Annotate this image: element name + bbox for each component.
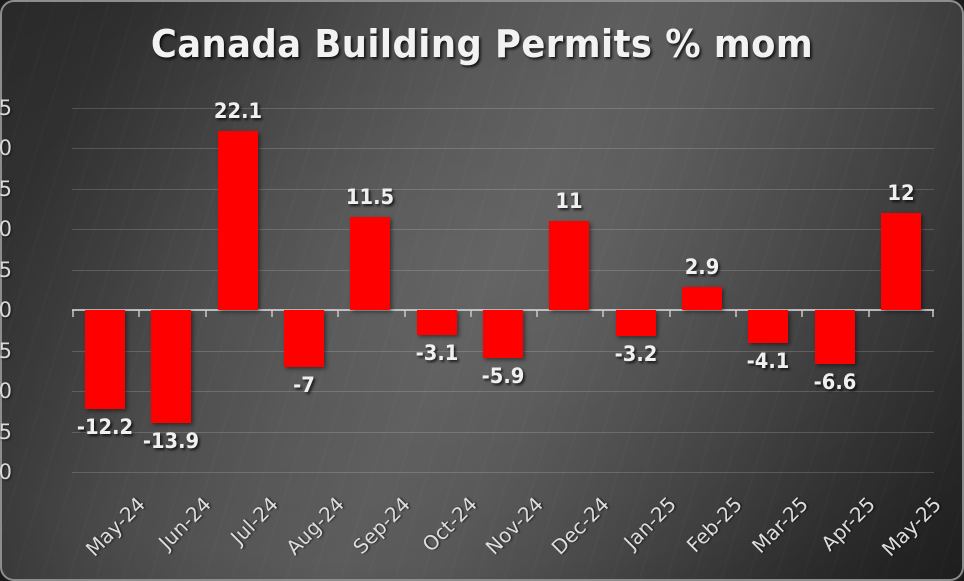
x-axis-tick bbox=[735, 310, 737, 317]
x-axis-tick bbox=[404, 310, 406, 317]
y-axis-tick-label: -20 bbox=[0, 460, 12, 484]
bar[interactable] bbox=[350, 217, 390, 310]
y-axis-tick-label: -15 bbox=[0, 420, 12, 444]
gridline bbox=[72, 472, 934, 473]
x-axis-tick bbox=[271, 310, 273, 317]
bar-value-label: -7 bbox=[262, 373, 346, 397]
y-axis-tick-label: 5 bbox=[0, 258, 12, 282]
x-axis-tick bbox=[868, 310, 870, 317]
y-axis-tick-label: 15 bbox=[0, 177, 12, 201]
bar[interactable] bbox=[284, 310, 324, 367]
bar[interactable] bbox=[151, 310, 191, 422]
y-axis-tick-label: 0 bbox=[0, 298, 12, 322]
gridline bbox=[72, 270, 934, 271]
x-axis-tick bbox=[932, 310, 934, 317]
y-axis-tick-label: 20 bbox=[0, 136, 12, 160]
plot-area: -12.2-13.922.1-711.5-3.1-5.911-3.22.9-4.… bbox=[72, 108, 934, 472]
y-axis-tick-label: -10 bbox=[0, 379, 12, 403]
bar[interactable] bbox=[815, 310, 855, 363]
bar-value-label: -5.9 bbox=[461, 364, 545, 388]
bar[interactable] bbox=[218, 131, 258, 310]
bar[interactable] bbox=[748, 310, 788, 343]
bar-value-label: -6.6 bbox=[793, 370, 877, 394]
x-axis-tick bbox=[536, 310, 538, 317]
bar-value-label: -3.2 bbox=[594, 342, 678, 366]
y-axis-tick-label: 25 bbox=[0, 96, 12, 120]
x-axis-tick bbox=[602, 310, 604, 317]
bar[interactable] bbox=[616, 310, 656, 336]
x-axis-tick bbox=[72, 310, 74, 317]
gridline bbox=[72, 189, 934, 190]
bar-value-label: -13.9 bbox=[130, 429, 214, 453]
bar[interactable] bbox=[417, 310, 457, 335]
x-axis-tick bbox=[205, 310, 207, 317]
bar-value-label: 22.1 bbox=[196, 99, 280, 123]
bar-value-label: 11.5 bbox=[329, 185, 413, 209]
chart-title: Canada Building Permits % mom bbox=[34, 22, 931, 66]
bar-value-label: 2.9 bbox=[660, 255, 744, 279]
bar[interactable] bbox=[85, 310, 125, 409]
x-axis-tick bbox=[801, 310, 803, 317]
bar[interactable] bbox=[682, 287, 722, 310]
chart-figure: Canada Building Permits % mom -12.2-13.9… bbox=[0, 0, 964, 581]
bar[interactable] bbox=[549, 221, 589, 310]
x-axis-tick bbox=[337, 310, 339, 317]
x-axis-tick bbox=[138, 310, 140, 317]
gridline bbox=[72, 229, 934, 230]
bar[interactable] bbox=[881, 213, 921, 310]
bar-value-label: -3.1 bbox=[395, 341, 479, 365]
x-axis-tick bbox=[470, 310, 472, 317]
y-axis-tick-label: -5 bbox=[0, 339, 12, 363]
y-axis-tick-label: 10 bbox=[0, 217, 12, 241]
x-axis-tick bbox=[669, 310, 671, 317]
gridline bbox=[72, 148, 934, 149]
bar[interactable] bbox=[483, 310, 523, 358]
bar-value-label: 12 bbox=[859, 181, 943, 205]
bar-value-label: 11 bbox=[527, 189, 611, 213]
